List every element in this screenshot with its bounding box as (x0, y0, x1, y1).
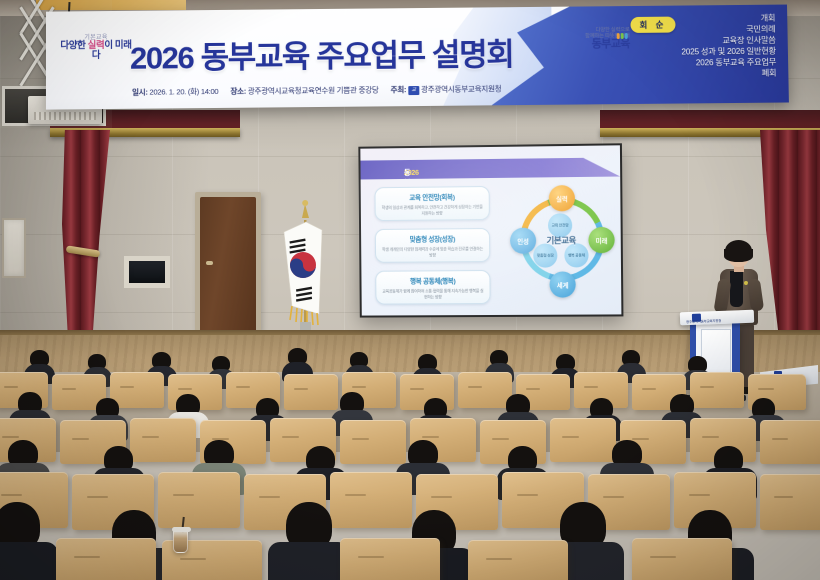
banner-logo-left: 기본교육 다양한 실력이 미래다 (58, 35, 134, 62)
diagram-petal: 맞춤형 성장 (533, 243, 557, 267)
logo-left-main-text: 다양한 실력이 미래다 (58, 41, 134, 62)
slide-pillar-box: 교육 안전망(회복) 학생의 일상과 관계를 회복하고, 안전하고 건강하게 성… (374, 186, 489, 221)
auditorium-chair (330, 472, 412, 528)
event-banner: 기본교육 다양한 실력이 미래다 2026 동부교육 주요업무 설명회 일시: … (46, 5, 789, 110)
projection-screen: 2026 동부교육 주요업무 설명회 교육 안전망(회복) 학생의 일상과 관계… (358, 143, 623, 317)
speaker-hair (725, 240, 752, 262)
iced-coffee-cup (173, 529, 188, 553)
auditorium-chair (284, 374, 338, 410)
auditorium-chair (760, 420, 820, 464)
pillar-title: 행복 공동체(행복) (376, 275, 489, 286)
banner-host: 주최: 교광주광역시동부교육지원청 (391, 83, 502, 95)
host-mark-icon: 교 (408, 85, 419, 94)
audience-seating (0, 352, 820, 580)
pillar-title: 교육 안전망(회복) (376, 191, 489, 202)
auditorium-chair (632, 538, 732, 580)
pillar-desc: 학생의 일상과 관계를 회복하고, 안전하고 건강하게 성장하는 기반을 지원하… (376, 204, 489, 216)
banner-place: 장소: 광주광역시교육청교육연수원 기쁨관 중강당 (230, 84, 378, 96)
auditorium-chair (340, 538, 440, 580)
slide-body: 교육 안전망(회복) 학생의 일상과 관계를 회복하고, 안전하고 건강하게 성… (361, 179, 622, 316)
auditorium-chair (130, 418, 196, 462)
side-door-frame (195, 192, 261, 332)
auditorium-chair (340, 420, 406, 464)
pillar-title: 맞춤형 성장(성장) (376, 233, 489, 244)
diagram-node-bottom: 세계 (549, 271, 575, 297)
curtain-pelmet-right (600, 110, 820, 130)
slide-pillar-box: 맞춤형 성장(성장) 학생 개개인의 다양한 잠재력과 수준에 맞춘 학습과 진… (375, 228, 490, 263)
slide-pillar-box: 행복 공동체(행복) 교육공동체가 함께 참여하여 소통·협력을 통해 지속가능… (375, 270, 490, 305)
speaker-inner-top (730, 271, 743, 307)
pillar-desc: 학생 개개인의 다양한 잠재력과 수준에 맞춘 학습과 진로를 연결하는 방향 (376, 246, 489, 258)
auditorium-chair (458, 372, 512, 408)
auditorium-chair (158, 472, 240, 528)
banner-title: 2026 동부교육 주요업무 설명회 (130, 28, 580, 77)
side-door[interactable] (200, 197, 256, 332)
door-knob-icon (206, 261, 213, 265)
agenda-list: 개회 국민의례 교육장 인사말씀 2025 성과 및 2026 일반현황 202… (545, 13, 776, 82)
slide-circular-diagram: 실력 미래 세계 인성 교육 안전망 맞춤형 성장 행복 공동체 기본교육 (502, 181, 620, 316)
auditorium-chair (110, 372, 164, 408)
auditorium-photo: 기본교육 다양한 실력이 미래다 2026 동부교육 주요업무 설명회 일시: … (0, 0, 820, 580)
slide-header-bar: 2026 동부교육 주요업무 설명회 (360, 157, 620, 179)
diagram-node-top: 실력 (549, 185, 575, 211)
projected-slide: 2026 동부교육 주요업무 설명회 교육 안전망(회복) 학생의 일상과 관계… (360, 145, 621, 315)
lectern-org-text: 광주광역시동부교육지원청 (686, 318, 721, 324)
cup-lid (172, 527, 191, 532)
agenda-item: 폐회 (546, 68, 776, 81)
pillar-desc: 교육공동체가 함께 참여하여 소통·협력을 통해 지속가능한 행복을 실현하는 … (376, 288, 489, 300)
wall-panel (2, 218, 26, 278)
diagram-petal: 행복 공동체 (564, 243, 588, 267)
korean-flag (272, 196, 342, 338)
auditorium-chair (468, 540, 568, 580)
wall-mounted-display (124, 256, 170, 288)
auditorium-chair (690, 372, 744, 408)
auditorium-chair (56, 538, 156, 580)
diagram-center-label: 기본교육 (528, 234, 594, 247)
auditorium-chair (760, 474, 820, 530)
auditorium-chair (550, 418, 616, 462)
lectern-top: 광주광역시동부교육지원청 (680, 310, 754, 326)
banner-date: 일시: 2026. 1. 20. (화) 14:00 (132, 86, 218, 98)
